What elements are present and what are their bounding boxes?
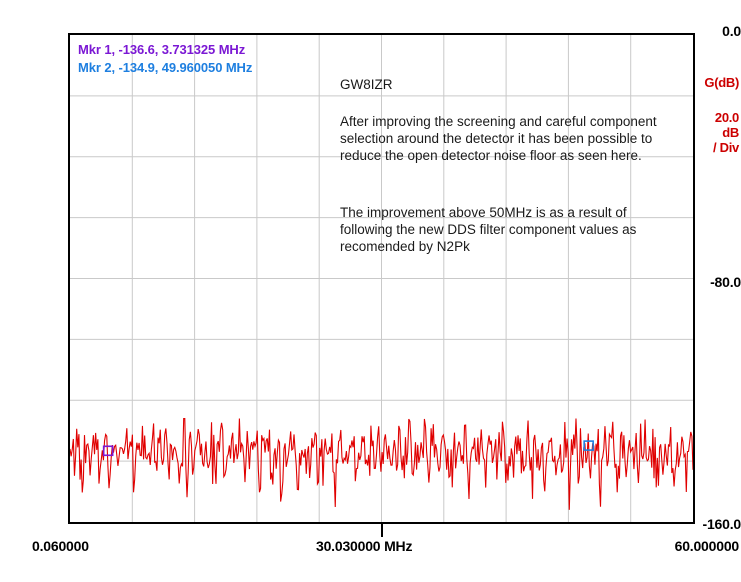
- annotation-paragraph-1: After improving the screening and carefu…: [340, 113, 670, 164]
- callsign-label: GW8IZR: [340, 77, 393, 92]
- spectrum-trace-svg: [70, 35, 693, 522]
- marker-2-readout: Mkr 2, -134.9, 49.960050 MHz: [78, 60, 252, 75]
- x-axis-tick-center: 30.030000 MHz: [316, 538, 412, 554]
- plot-area[interactable]: Mkr 1, -136.6, 3.731325 MHz Mkr 2, -134.…: [68, 33, 695, 524]
- x-axis-center-tick: [381, 524, 383, 537]
- x-axis-tick-end: 60.000000: [675, 538, 739, 554]
- annotation-paragraph-2-text: The improvement above 50MHz is as a resu…: [340, 204, 670, 255]
- x-axis-tick-start: 0.060000: [32, 538, 89, 554]
- grid-lines: [70, 35, 693, 522]
- plot-inner: Mkr 1, -136.6, 3.731325 MHz Mkr 2, -134.…: [70, 35, 693, 522]
- annotation-paragraph-1-text: After improving the screening and carefu…: [340, 113, 670, 164]
- annotation-paragraph-2: The improvement above 50MHz is as a resu…: [340, 204, 670, 255]
- marker-1-readout: Mkr 1, -136.6, 3.731325 MHz: [78, 42, 245, 57]
- spectrum-analyser-screen: 0.0 -80.0 -160.0 G(dB) 20.0 dB / Div: [0, 0, 741, 582]
